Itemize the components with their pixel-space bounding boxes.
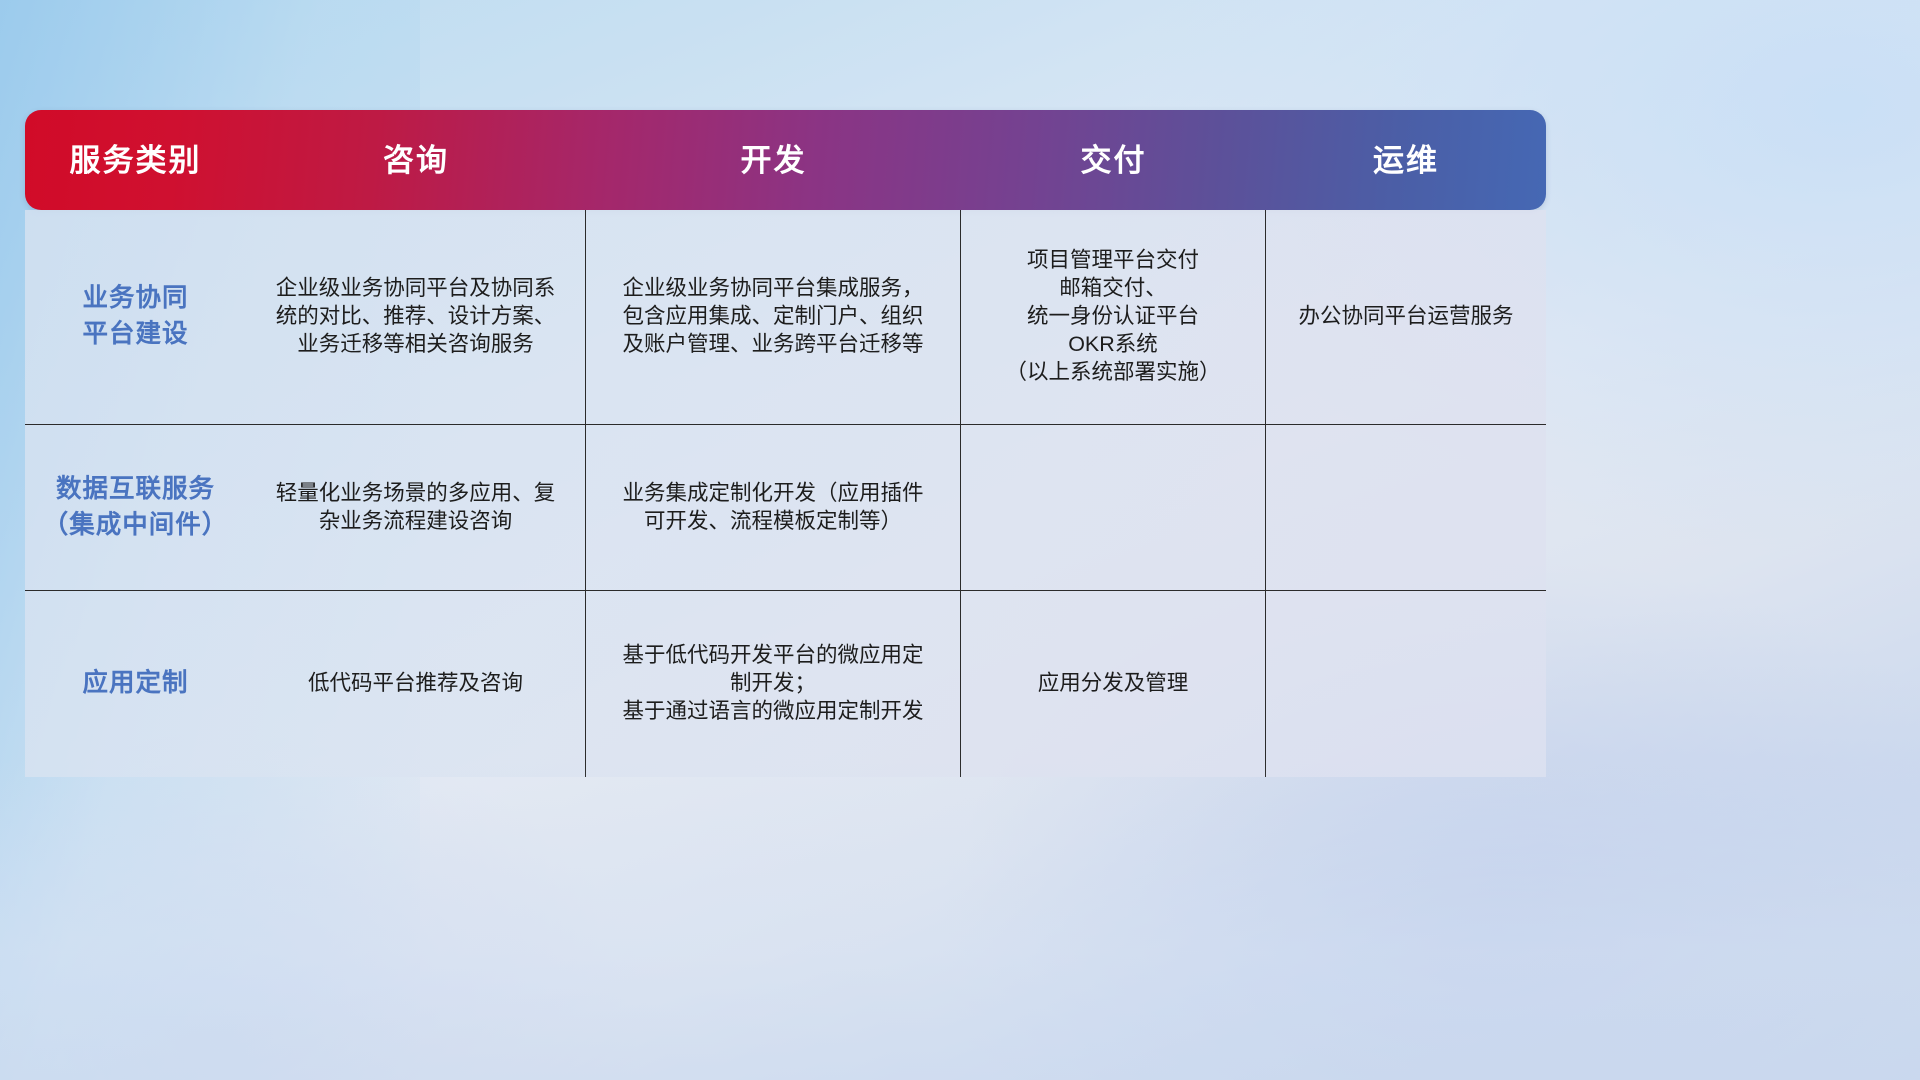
table-row: 数据互联服务 （集成中间件） 轻量化业务场景的多应用、复 杂业务流程建设咨询 业… <box>25 425 1546 591</box>
table-body: 业务协同 平台建设 企业级业务协同平台及协同系 统的对比、推荐、设计方案、 业务… <box>25 210 1546 777</box>
slide-canvas: 服务类别 咨询 开发 交付 运维 业务协同 平台建设 企业级业务协同平台及协同系… <box>0 0 1920 1080</box>
row-category-label: 应用定制 <box>25 591 246 777</box>
cell-delivery: 项目管理平台交付 邮箱交付、 统一身份认证平台 OKR系统 （以上系统部署实施） <box>961 210 1266 424</box>
header-cell-delivery: 交付 <box>961 145 1266 176</box>
cell-consulting: 低代码平台推荐及咨询 <box>246 591 586 777</box>
header-cell-development: 开发 <box>586 145 961 176</box>
cell-development: 业务集成定制化开发（应用插件 可开发、流程模板定制等） <box>586 425 961 590</box>
table-row: 应用定制 低代码平台推荐及咨询 基于低代码开发平台的微应用定 制开发； 基于通过… <box>25 591 1546 777</box>
header-cell-consulting: 咨询 <box>246 145 586 176</box>
cell-consulting: 轻量化业务场景的多应用、复 杂业务流程建设咨询 <box>246 425 586 590</box>
cell-development: 基于低代码开发平台的微应用定 制开发； 基于通过语言的微应用定制开发 <box>586 591 961 777</box>
header-cell-service-category: 服务类别 <box>25 145 246 176</box>
cell-delivery: 应用分发及管理 <box>961 591 1266 777</box>
row-category-label: 业务协同 平台建设 <box>25 210 246 424</box>
cell-operations: 办公协同平台运营服务 <box>1266 210 1546 424</box>
cell-delivery <box>961 425 1266 590</box>
table-row: 业务协同 平台建设 企业级业务协同平台及协同系 统的对比、推荐、设计方案、 业务… <box>25 210 1546 425</box>
header-cell-operations: 运维 <box>1266 145 1546 176</box>
cell-consulting: 企业级业务协同平台及协同系 统的对比、推荐、设计方案、 业务迁移等相关咨询服务 <box>246 210 586 424</box>
cell-operations <box>1266 591 1546 777</box>
cell-operations <box>1266 425 1546 590</box>
row-category-label: 数据互联服务 （集成中间件） <box>25 425 246 590</box>
cell-development: 企业级业务协同平台集成服务， 包含应用集成、定制门户、组织 及账户管理、业务跨平… <box>586 210 961 424</box>
table-header-row: 服务类别 咨询 开发 交付 运维 <box>25 110 1546 210</box>
service-matrix-table: 服务类别 咨询 开发 交付 运维 业务协同 平台建设 企业级业务协同平台及协同系… <box>25 110 1546 777</box>
